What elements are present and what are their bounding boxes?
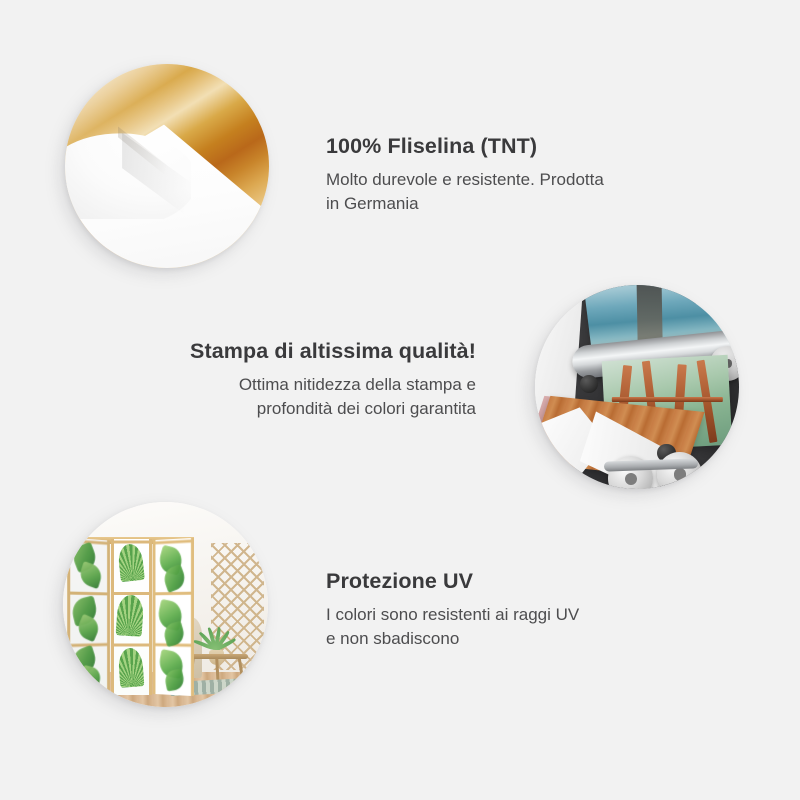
tropical-leaf-fan — [116, 594, 145, 636]
feature-image-uv — [63, 502, 268, 707]
feature-text-stampa: Stampa di altissima qualità! Ottima niti… — [162, 339, 476, 421]
press-wheel — [657, 452, 702, 489]
feature-highlights-stage: 100% Fliselina (TNT) Molto durevole e re… — [0, 0, 800, 800]
feature-image-stampa — [535, 285, 739, 489]
feature-text-uv: Protezione UV I colori sono resistenti a… — [326, 569, 579, 651]
divider-panel — [111, 539, 153, 695]
feature-heading-stampa: Stampa di altissima qualità! — [162, 339, 476, 364]
feature-image-fliselina — [65, 64, 269, 268]
feature-text-fliselina: 100% Fliselina (TNT) Molto durevole e re… — [326, 134, 604, 216]
divider-panel — [67, 537, 109, 696]
peeled-wallpaper-corner-illustration — [65, 64, 269, 268]
tropical-leaf-fan — [117, 647, 144, 688]
feature-body-uv: I colori sono resistenti ai raggi UV e n… — [326, 603, 579, 651]
printing-press-illustration — [535, 285, 739, 489]
tropical-leaf-fan — [117, 542, 145, 582]
divider-panel — [153, 538, 194, 696]
tropical-leaf — [79, 665, 103, 689]
feature-body-fliselina: Molto durevole e resistente. Prodotta in… — [326, 168, 604, 216]
feature-heading-uv: Protezione UV — [326, 569, 579, 594]
feature-body-stampa: Ottima nitidezza della stampa e profondi… — [162, 373, 476, 421]
room-divider-screen — [67, 539, 194, 695]
feature-heading-fliselina: 100% Fliselina (TNT) — [326, 134, 604, 159]
tropical-room-illustration — [63, 502, 268, 707]
